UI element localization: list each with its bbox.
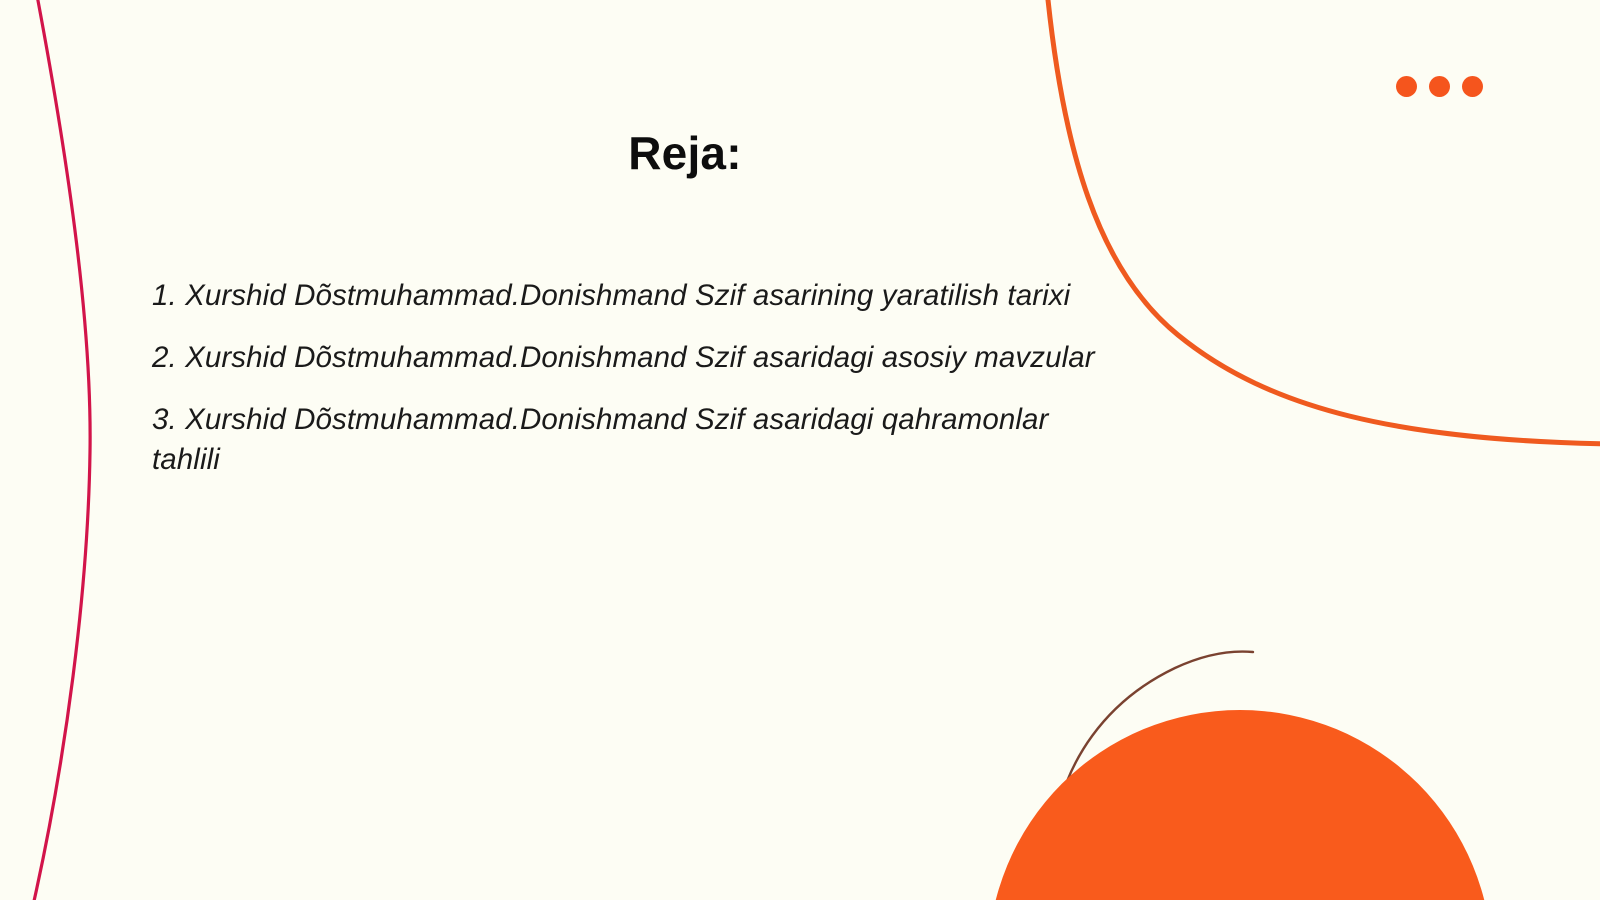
dot-icon-3 — [1462, 76, 1483, 97]
three-dots-accent — [1396, 76, 1483, 97]
plan-list: 1. Xurshid Dõstmuhammad.Donishmand Szif … — [152, 276, 1112, 479]
slide-canvas: Reja: 1. Xurshid Dõstmuhammad.Donishmand… — [0, 0, 1600, 900]
plan-item-1: 1. Xurshid Dõstmuhammad.Donishmand Szif … — [152, 276, 1112, 315]
brown-thin-arc-bottom-right — [1053, 652, 1253, 838]
page-title: Reja: — [0, 128, 1370, 179]
plan-item-2: 2. Xurshid Dõstmuhammad.Donishmand Szif … — [152, 338, 1112, 377]
plan-item-3: 3. Xurshid Dõstmuhammad.Donishmand Szif … — [152, 400, 1112, 478]
dot-icon-1 — [1396, 76, 1417, 97]
orange-filled-circle-bottom-right — [988, 710, 1492, 900]
orange-circle-outline-top-right — [1046, 0, 1600, 444]
dot-icon-2 — [1429, 76, 1450, 97]
